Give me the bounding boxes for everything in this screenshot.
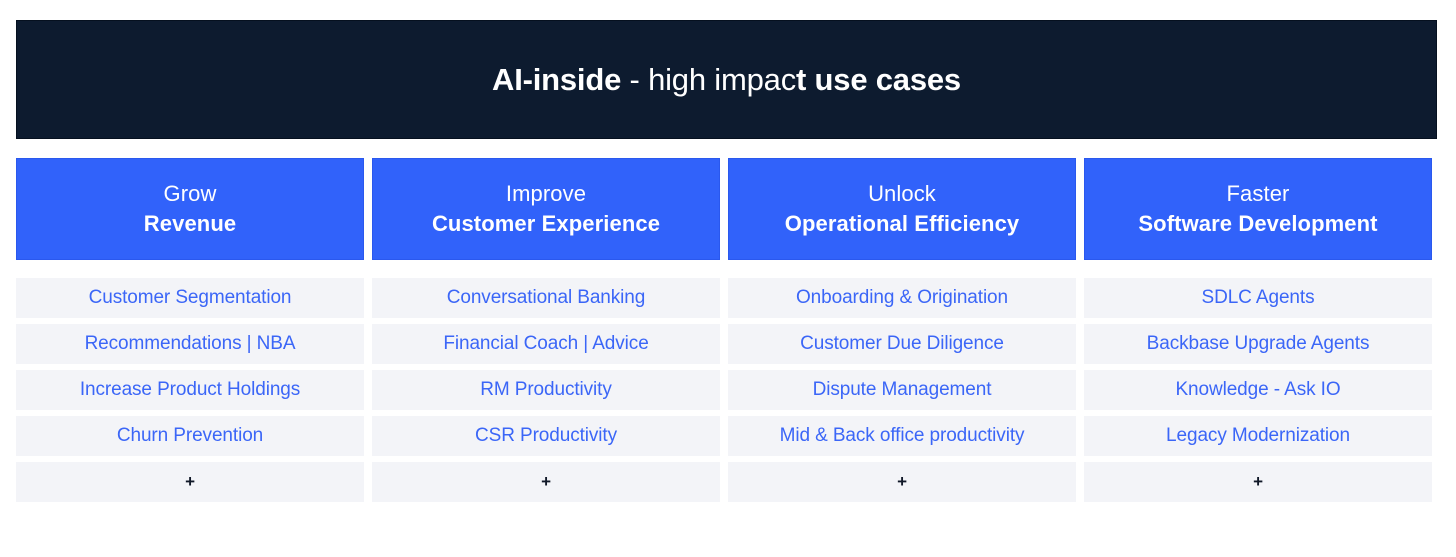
column-header-improve-customer-experience[interactable]: Improve Customer Experience	[372, 158, 720, 260]
title-regular-mid: - high impac	[621, 62, 796, 97]
use-case-columns: Grow Revenue Customer Segmentation Recom…	[16, 158, 1432, 502]
list-item[interactable]: Customer Segmentation	[16, 278, 364, 318]
column-header-line1: Improve	[506, 179, 586, 209]
title-bold-tail: t use cases	[796, 62, 961, 97]
column-header-line1: Grow	[164, 179, 217, 209]
column-header-unlock-operational-efficiency[interactable]: Unlock Operational Efficiency	[728, 158, 1076, 260]
add-item-button[interactable]: +	[1084, 462, 1432, 502]
add-item-button[interactable]: +	[372, 462, 720, 502]
column-improve-customer-experience: Improve Customer Experience Conversation…	[372, 158, 720, 502]
column-header-faster-software-development[interactable]: Faster Software Development	[1084, 158, 1432, 260]
list-item[interactable]: Onboarding & Origination	[728, 278, 1076, 318]
column-items-grow-revenue: Customer Segmentation Recommendations | …	[16, 278, 364, 502]
slide-root: AI-inside - high impact use cases Grow R…	[0, 0, 1456, 557]
column-header-grow-revenue[interactable]: Grow Revenue	[16, 158, 364, 260]
add-item-button[interactable]: +	[16, 462, 364, 502]
list-item[interactable]: Legacy Modernization	[1084, 416, 1432, 456]
list-item[interactable]: Knowledge - Ask IO	[1084, 370, 1432, 410]
column-grow-revenue: Grow Revenue Customer Segmentation Recom…	[16, 158, 364, 502]
column-header-line2: Revenue	[144, 209, 236, 239]
list-item[interactable]: Increase Product Holdings	[16, 370, 364, 410]
column-header-line2: Customer Experience	[432, 209, 660, 239]
column-header-line1: Unlock	[868, 179, 936, 209]
column-header-line2: Software Development	[1138, 209, 1377, 239]
list-item[interactable]: Backbase Upgrade Agents	[1084, 324, 1432, 364]
list-item[interactable]: Mid & Back office productivity	[728, 416, 1076, 456]
column-unlock-operational-efficiency: Unlock Operational Efficiency Onboarding…	[728, 158, 1076, 502]
column-header-line2: Operational Efficiency	[785, 209, 1020, 239]
list-item[interactable]: Dispute Management	[728, 370, 1076, 410]
list-item[interactable]: SDLC Agents	[1084, 278, 1432, 318]
list-item[interactable]: Conversational Banking	[372, 278, 720, 318]
list-item[interactable]: Churn Prevention	[16, 416, 364, 456]
page-title: AI-inside - high impact use cases	[492, 61, 961, 98]
add-item-button[interactable]: +	[728, 462, 1076, 502]
list-item[interactable]: RM Productivity	[372, 370, 720, 410]
title-band: AI-inside - high impact use cases	[16, 20, 1437, 139]
column-items-improve-customer-experience: Conversational Banking Financial Coach |…	[372, 278, 720, 502]
list-item[interactable]: CSR Productivity	[372, 416, 720, 456]
column-faster-software-development: Faster Software Development SDLC Agents …	[1084, 158, 1432, 502]
column-items-faster-software-development: SDLC Agents Backbase Upgrade Agents Know…	[1084, 278, 1432, 502]
title-bold-lead: AI-inside	[492, 62, 621, 97]
column-items-unlock-operational-efficiency: Onboarding & Origination Customer Due Di…	[728, 278, 1076, 502]
column-header-line1: Faster	[1227, 179, 1290, 209]
list-item[interactable]: Customer Due Diligence	[728, 324, 1076, 364]
list-item[interactable]: Recommendations | NBA	[16, 324, 364, 364]
list-item[interactable]: Financial Coach | Advice	[372, 324, 720, 364]
